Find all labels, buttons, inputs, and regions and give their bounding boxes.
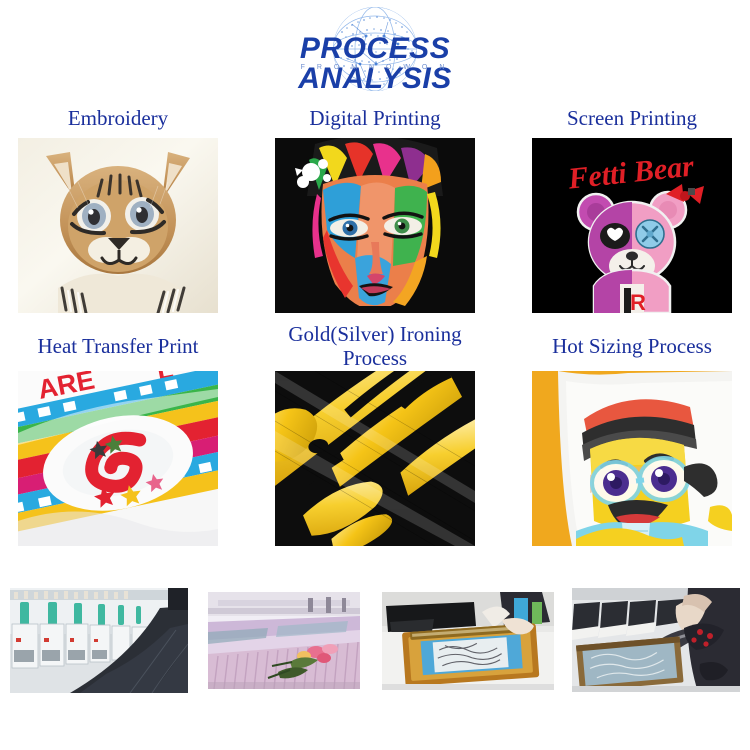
process-card-screen-printing[interactable]: Screen Printing Fetti Bear — [532, 100, 732, 313]
process-title-gold-ironing: Gold(Silver) Ironing Process — [275, 323, 475, 371]
digital-print-face-thumbnail[interactable] — [275, 138, 475, 313]
hot-sizing-thumbnail[interactable] — [532, 371, 732, 546]
screen-printing-worker-photo[interactable] — [572, 588, 740, 692]
embroidery-machines-photo[interactable] — [10, 588, 188, 693]
digital-printing-machine-photo[interactable] — [208, 592, 360, 689]
process-row-2: Heat Transfer Print ARE F — [18, 323, 732, 546]
embroidered-cat-thumbnail[interactable] — [18, 138, 218, 313]
gold-ironing-thumbnail[interactable] — [275, 371, 475, 546]
process-card-hot-sizing[interactable]: Hot Sizing Process — [532, 323, 732, 546]
page-header: PROCESS ANALYSIS F R O M N O W O N — [0, 0, 750, 100]
process-title-hot-sizing: Hot Sizing Process — [550, 323, 714, 371]
process-card-digital-printing[interactable]: Digital Printing — [275, 100, 475, 313]
process-title-digital-printing: Digital Printing — [307, 100, 442, 138]
process-grid: Embroidery — [0, 100, 750, 546]
process-card-gold-ironing[interactable]: Gold(Silver) Ironing Process — [275, 323, 475, 546]
screen-print-fetti-bear-thumbnail[interactable]: Fetti Bear — [532, 138, 732, 313]
process-card-embroidery[interactable]: Embroidery — [18, 100, 218, 313]
process-title-screen-printing: Screen Printing — [565, 100, 699, 138]
brand-subtitle: F R O M N O W O N — [225, 64, 525, 71]
screen-frame-photo[interactable] — [382, 592, 554, 690]
process-row-1: Embroidery — [18, 100, 732, 313]
process-card-heat-transfer[interactable]: Heat Transfer Print ARE F — [18, 323, 218, 546]
catalog-page: PROCESS ANALYSIS F R O M N O W O N Embro… — [0, 0, 750, 750]
svg-text:R: R — [630, 290, 646, 313]
process-title-embroidery: Embroidery — [66, 100, 170, 138]
process-title-heat-transfer: Heat Transfer Print — [36, 323, 201, 371]
heat-transfer-print-thumbnail[interactable]: ARE F — [18, 371, 218, 546]
brand-logo: PROCESS ANALYSIS F R O M N O W O N — [225, 4, 525, 96]
